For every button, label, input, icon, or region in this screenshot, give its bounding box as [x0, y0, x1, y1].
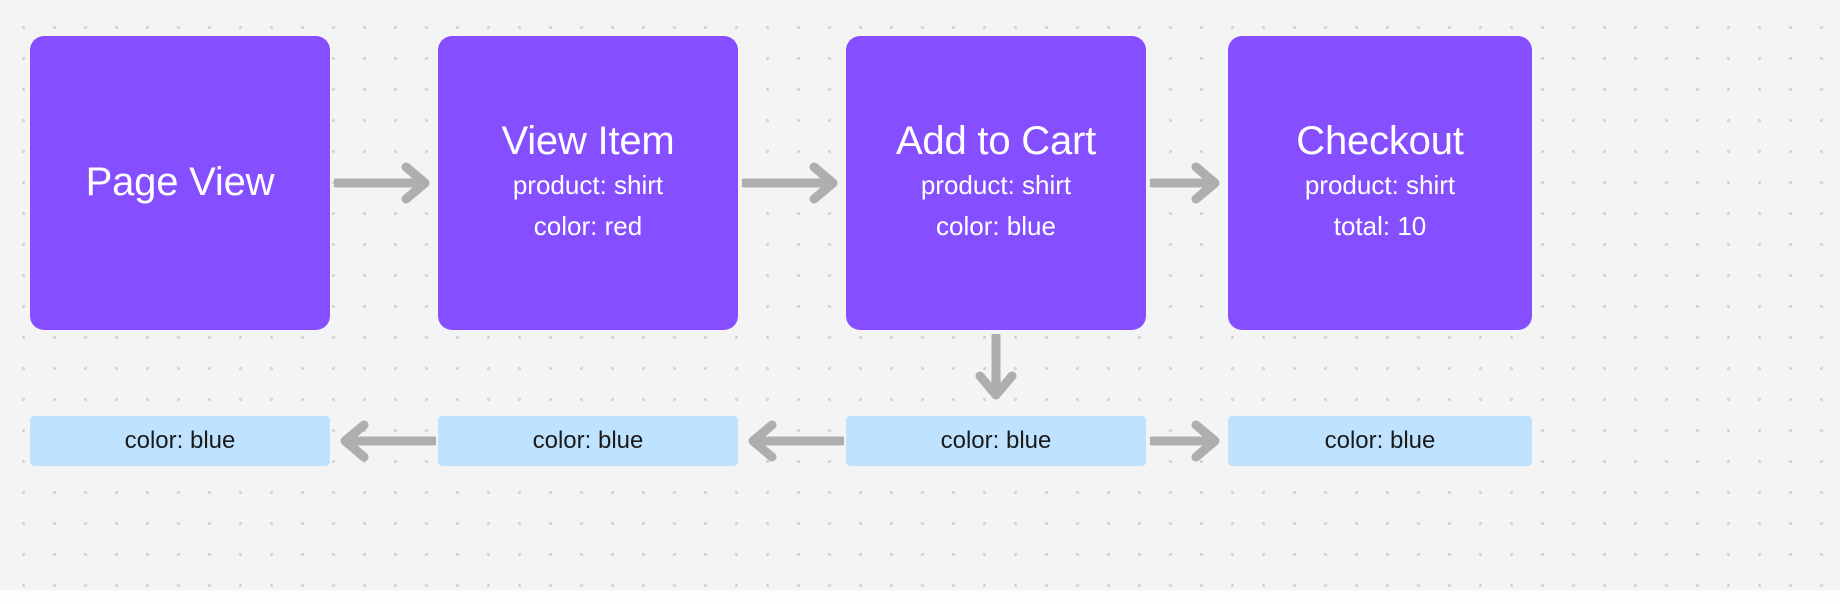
arrow-down-icon — [974, 334, 1018, 402]
flow-node-checkout[interactable]: Checkout product: shirt total: 10 — [1228, 36, 1532, 330]
arrow-right-icon — [742, 161, 844, 205]
arrow-left-icon — [742, 419, 844, 463]
flow-node-property: color: blue — [936, 206, 1056, 247]
flow-node-property: product: shirt — [1305, 165, 1455, 206]
flow-node-title: Add to Cart — [896, 119, 1096, 164]
arrow-right-icon — [1150, 419, 1226, 463]
flow-node-add-to-cart[interactable]: Add to Cart product: shirt color: blue — [846, 36, 1146, 330]
flow-node-title: Page View — [86, 160, 275, 205]
flow-node-view-item[interactable]: View Item product: shirt color: red — [438, 36, 738, 330]
property-chip[interactable]: color: blue — [438, 416, 738, 466]
flow-node-property: total: 10 — [1334, 206, 1427, 247]
flow-node-title: Checkout — [1296, 119, 1463, 164]
flow-node-properties: product: shirt color: blue — [921, 165, 1071, 247]
property-chip[interactable]: color: blue — [1228, 416, 1532, 466]
property-chip[interactable]: color: blue — [846, 416, 1146, 466]
property-chip[interactable]: color: blue — [30, 416, 330, 466]
flow-node-title: View Item — [501, 119, 674, 164]
flow-canvas[interactable]: Page View View Item product: shirt color… — [0, 0, 1840, 590]
flow-node-property: product: shirt — [513, 165, 663, 206]
flow-node-property: product: shirt — [921, 165, 1071, 206]
canvas-bottom-strip — [0, 590, 1840, 604]
arrow-right-icon — [334, 161, 436, 205]
flow-node-page-view[interactable]: Page View — [30, 36, 330, 330]
flow-node-properties: product: shirt total: 10 — [1305, 165, 1455, 247]
arrow-right-icon — [1150, 161, 1226, 205]
arrow-left-icon — [334, 419, 436, 463]
flow-node-property: color: red — [534, 206, 642, 247]
flow-node-properties: product: shirt color: red — [513, 165, 663, 247]
